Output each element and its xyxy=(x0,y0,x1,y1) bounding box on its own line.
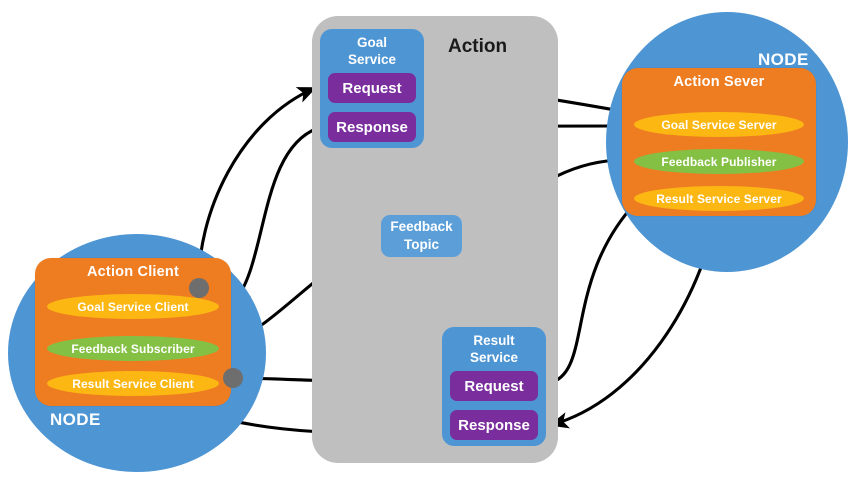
action-panel-title: Action xyxy=(448,36,507,58)
goal-service-response[interactable]: Response xyxy=(328,112,416,142)
pill-feedback-subscriber[interactable]: Feedback Subscriber xyxy=(47,336,219,361)
goal-client-connector-dot xyxy=(189,278,209,298)
feedback-topic-label-line1: Feedback xyxy=(390,219,452,234)
feedback-topic-label-line2: Topic xyxy=(404,237,439,252)
result-service-box: Result Service Request Response xyxy=(442,327,546,446)
result-client-connector-dot xyxy=(223,368,243,388)
goal-service-box: Goal Service Request Response xyxy=(320,29,424,148)
result-service-title: Result Service xyxy=(442,332,546,366)
feedback-topic-label: Feedback Topic xyxy=(390,218,452,254)
diagram-canvas: Action Action Client Goal Service Client… xyxy=(0,0,854,480)
action-server-box: Action Sever Goal Service Server Feedbac… xyxy=(622,68,816,216)
result-service-title-line1: Result xyxy=(473,333,514,348)
client-node-label: NODE xyxy=(50,410,101,430)
goal-service-title-line1: Goal xyxy=(357,35,387,50)
pill-goal-service-server[interactable]: Goal Service Server xyxy=(634,112,804,137)
goal-service-title-line2: Service xyxy=(348,52,396,67)
result-service-response[interactable]: Response xyxy=(450,410,538,440)
feedback-topic-box[interactable]: Feedback Topic xyxy=(381,215,462,257)
server-node-label: NODE xyxy=(758,50,809,70)
pill-goal-service-client[interactable]: Goal Service Client xyxy=(47,294,219,319)
pill-result-service-client[interactable]: Result Service Client xyxy=(47,371,219,396)
action-server-title: Action Sever xyxy=(622,74,816,90)
result-service-title-line2: Service xyxy=(470,350,518,365)
arrow-result-request-to-result-server xyxy=(546,198,640,384)
goal-service-title: Goal Service xyxy=(320,34,424,68)
pill-result-service-server[interactable]: Result Service Server xyxy=(634,186,804,211)
pill-feedback-publisher[interactable]: Feedback Publisher xyxy=(634,149,804,174)
arrow-goal-response-to-goal-client xyxy=(233,128,318,303)
goal-service-request[interactable]: Request xyxy=(328,73,416,103)
result-service-request[interactable]: Request xyxy=(450,371,538,401)
